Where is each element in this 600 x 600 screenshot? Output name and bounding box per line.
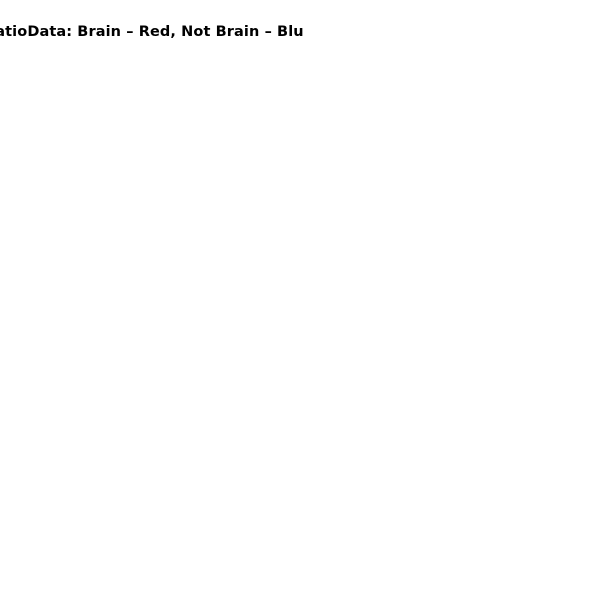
panel-title-ratio: RatioData: Brain – Red, Not Brain – Blu [0,24,304,40]
figure-canvas: RatioData: Brain – Red, Not Brain – Blu [0,0,600,600]
